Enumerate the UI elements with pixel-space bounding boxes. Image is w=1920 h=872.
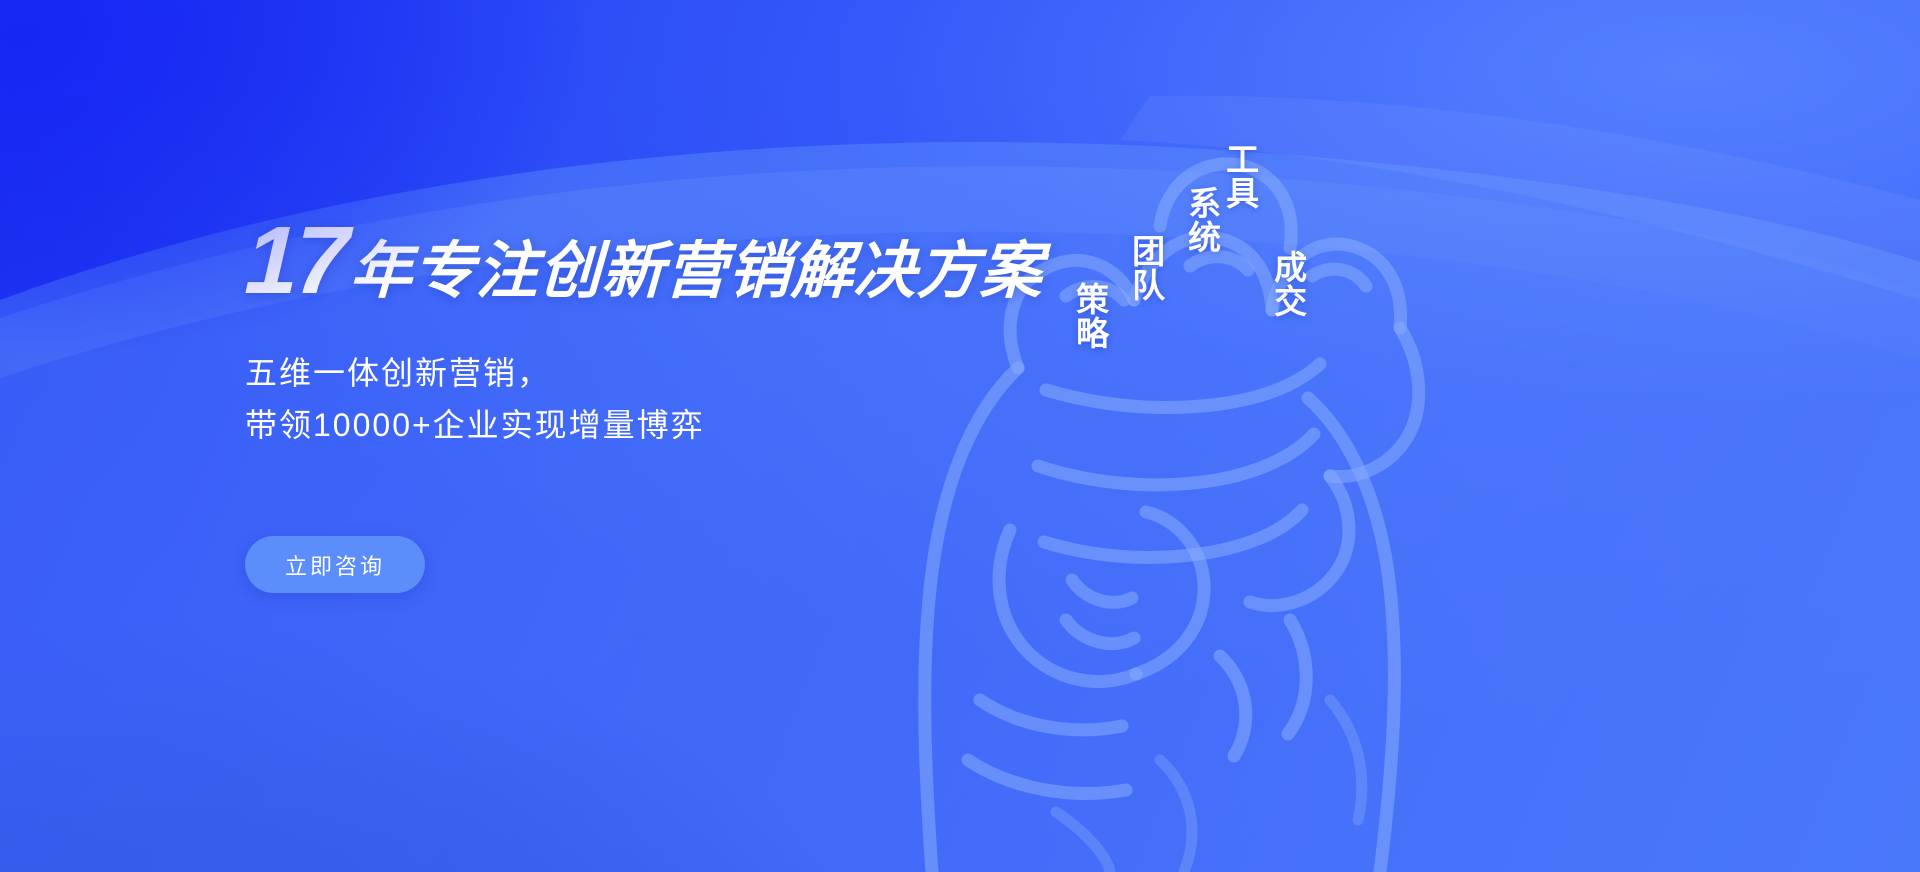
hero-subtitle-line-1: 五维一体创新营销， [245, 348, 1105, 400]
hero-subtitle-line-2: 带领10000+企业实现增量博弈 [245, 400, 1105, 452]
hero-headline: 17 年专注创新营销解决方案 [245, 217, 1105, 305]
headline-years-number: 17 [243, 217, 347, 305]
illustration-label-system: 系统 [1184, 186, 1220, 254]
hero-subtitle: 五维一体创新营销， 带领10000+企业实现增量博弈 [245, 348, 1105, 452]
illustration-label-tools: 工具 [1222, 142, 1258, 210]
hero-banner: 策略 团队 系统 工具 成交 17 年专注创新营销解决方案 五维一体创新营销， … [0, 0, 1920, 872]
hero-copy-block: 17 年专注创新营销解决方案 五维一体创新营销， 带领10000+企业实现增量博… [245, 196, 1105, 593]
headline-text: 年专注创新营销解决方案 [349, 241, 1044, 303]
illustration-label-team: 团队 [1128, 234, 1164, 302]
illustration-label-deal: 成交 [1270, 250, 1306, 318]
consult-now-button[interactable]: 立即咨询 [245, 536, 425, 593]
